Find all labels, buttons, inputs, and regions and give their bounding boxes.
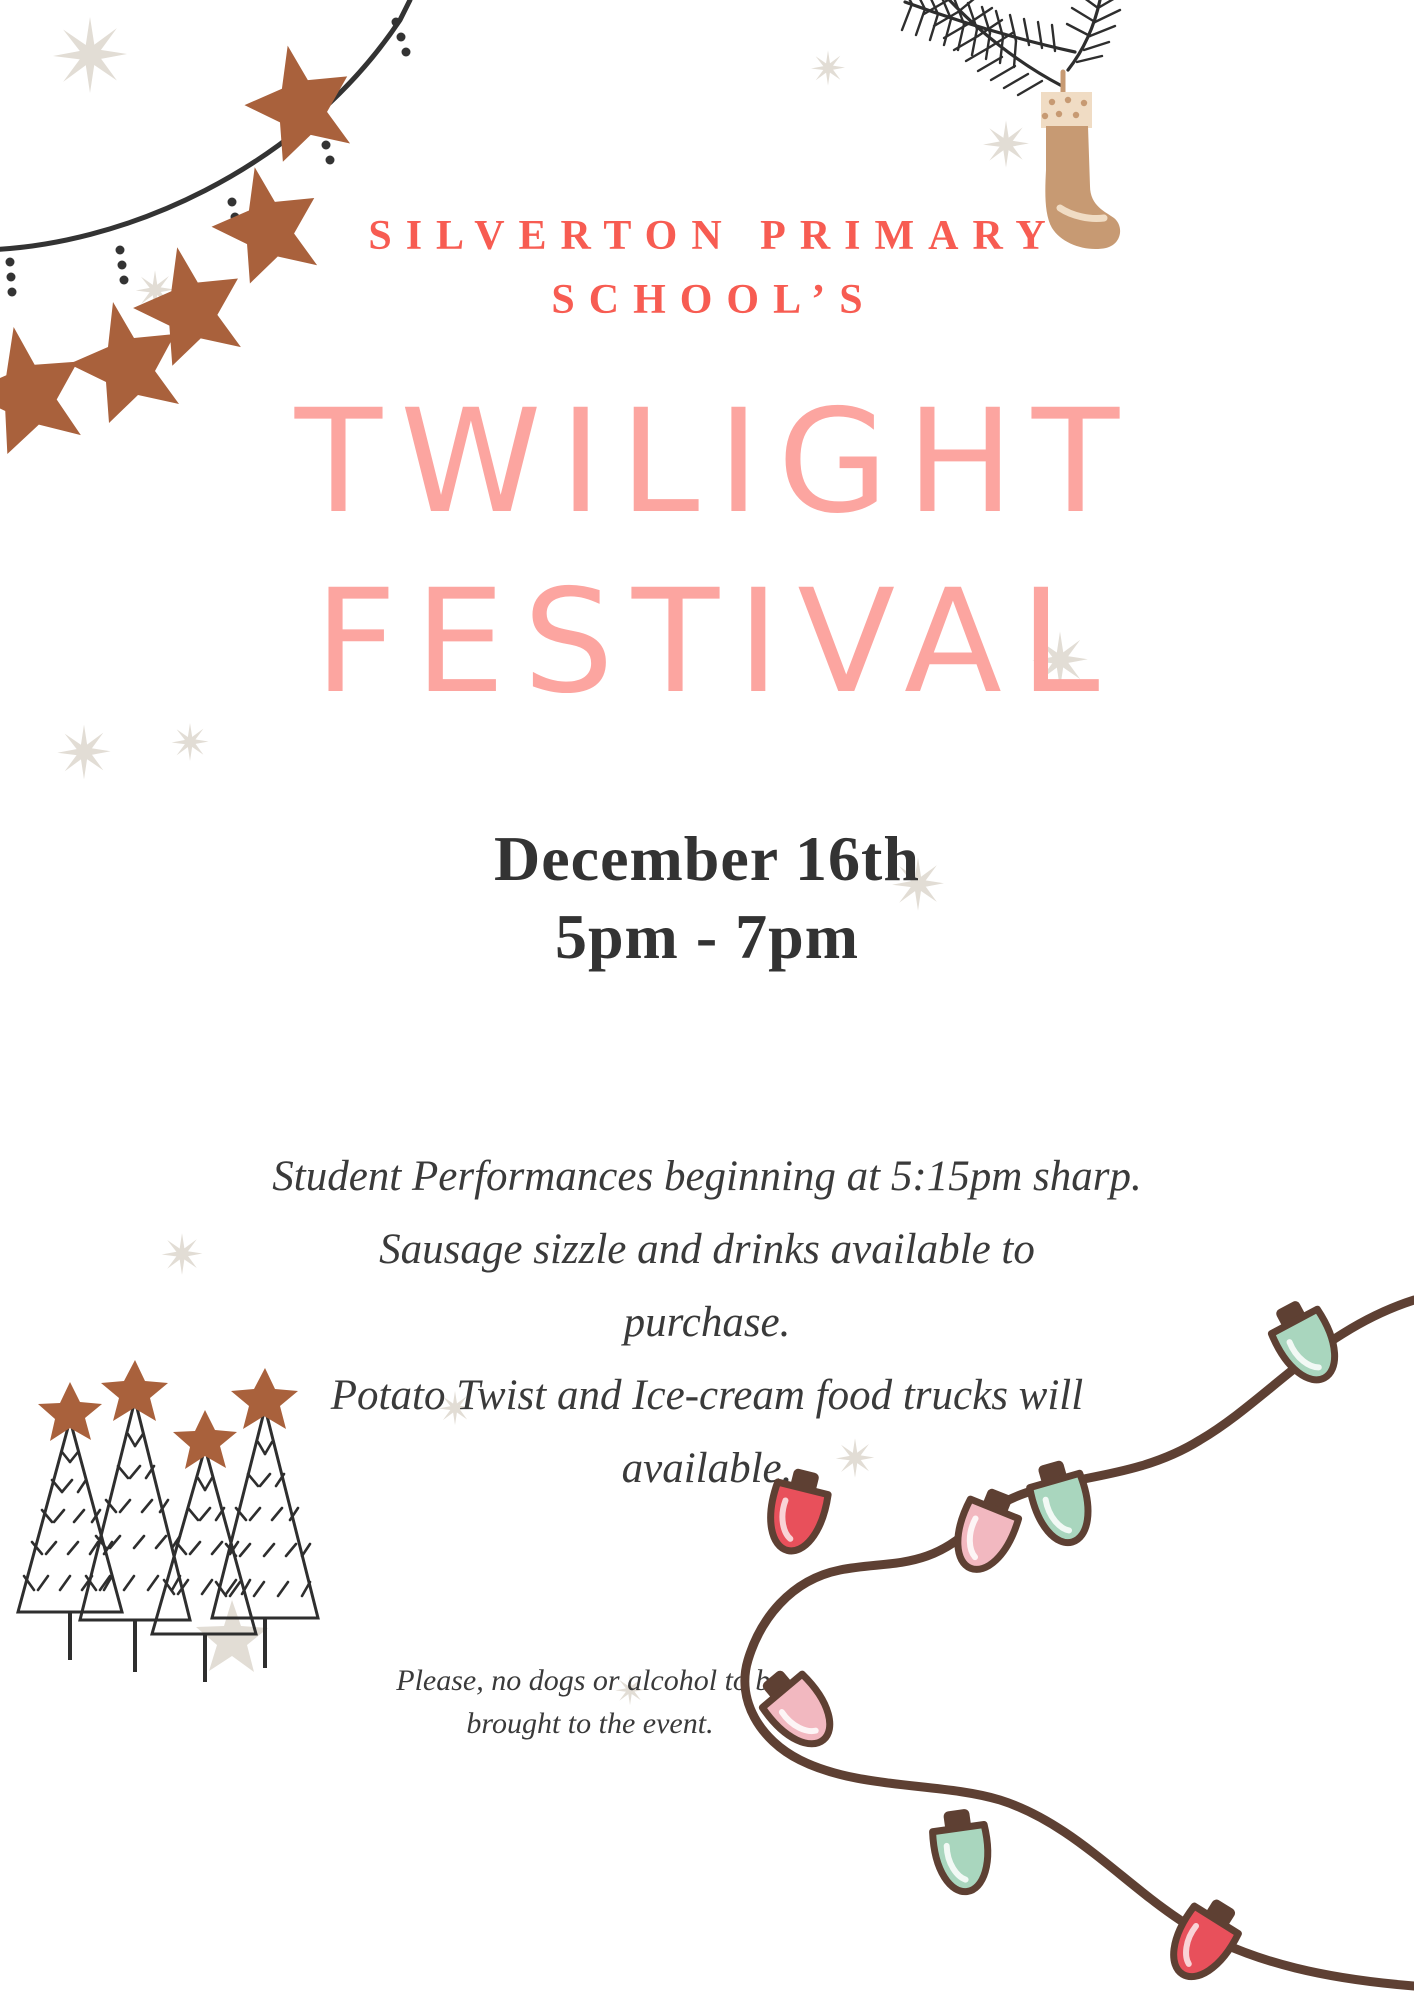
light-bulb-pink — [750, 1660, 844, 1757]
string-lights-bottom-right — [745, 1293, 1414, 1988]
light-bulb-green — [929, 1807, 993, 1896]
light-bulb-red — [1160, 1890, 1249, 1988]
light-bulb-green — [1262, 1293, 1348, 1390]
christmas-trees-bottom-left — [18, 1360, 318, 1682]
light-wire — [745, 1300, 1414, 1986]
festival-poster: SILVERTON PRIMARY SCHOOL’S TWILIGHT FEST… — [0, 0, 1414, 2000]
christmas-tree-icon — [18, 1382, 122, 1660]
light-bulb-red — [762, 1464, 834, 1556]
tree-topper-star-icon — [231, 1368, 298, 1429]
tree-topper-star-icon — [101, 1360, 168, 1421]
decoration-layer-foreground — [0, 0, 1414, 2000]
christmas-tree-icon — [212, 1368, 318, 1668]
light-bulb-green — [1024, 1456, 1098, 1550]
tree-topper-star-icon — [173, 1410, 237, 1469]
christmas-tree-icon — [152, 1410, 256, 1682]
tree-topper-star-icon — [38, 1382, 102, 1441]
